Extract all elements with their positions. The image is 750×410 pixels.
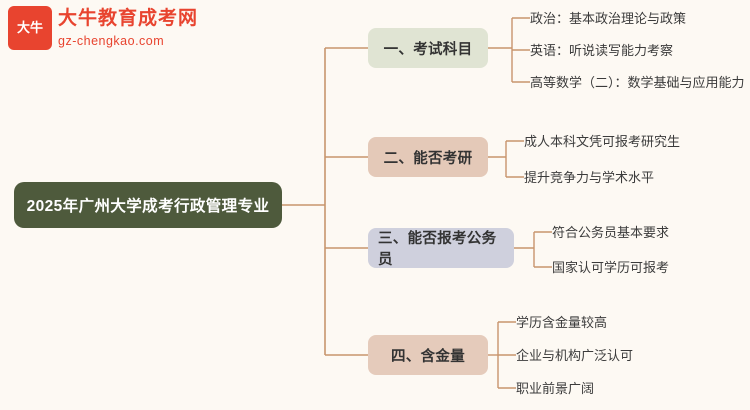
leaf-label-4-2: 企业与机构广泛认可 — [516, 348, 633, 363]
leaf-item-3-2: 国家认可学历可报考 — [552, 260, 669, 276]
leaf-item-4-1: 学历含金量较高 — [516, 315, 607, 331]
branch-label-4: 四、含金量 — [391, 345, 465, 366]
leaf-item-4-2: 企业与机构广泛认可 — [516, 348, 633, 364]
logo-mark-icon: 大牛 — [8, 6, 52, 50]
leaf-label-2-1: 成人本科文凭可报考研究生 — [524, 134, 680, 149]
mindmap-root-label: 2025年广州大学成考行政管理专业 — [27, 194, 270, 216]
leaf-label-1-1: 政治：基本政治理论与政策 — [530, 11, 686, 26]
leaf-item-4-3: 职业前景广阔 — [516, 381, 594, 397]
leaf-label-3-2: 国家认可学历可报考 — [552, 260, 669, 275]
branch-node-1: 一、考试科目 — [368, 28, 488, 68]
leaf-item-1-1: 政治：基本政治理论与政策 — [530, 11, 686, 27]
leaf-label-4-3: 职业前景广阔 — [516, 381, 594, 396]
logo-subtitle: gz-chengkao.com — [58, 34, 198, 48]
branch-node-4: 四、含金量 — [368, 335, 488, 375]
leaf-item-1-3: 高等数学（二）：数学基础与应用能力 — [530, 75, 745, 91]
logo-title: 大牛教育成考网 — [58, 8, 198, 31]
logo-text-block: 大牛教育成考网 gz-chengkao.com — [58, 6, 198, 48]
leaf-label-2-2: 提升竞争力与学术水平 — [524, 170, 654, 185]
leaf-label-1-3: 高等数学（二）：数学基础与应用能力 — [530, 75, 745, 90]
leaf-label-1-2: 英语：听说读写能力考察 — [530, 43, 673, 58]
site-logo[interactable]: 大牛 大牛教育成考网 gz-chengkao.com — [8, 6, 198, 50]
leaf-label-4-1: 学历含金量较高 — [516, 315, 607, 330]
leaf-item-1-2: 英语：听说读写能力考察 — [530, 43, 673, 59]
branch-label-3: 三、能否报考公务员 — [378, 227, 504, 269]
branch-node-2: 二、能否考研 — [368, 137, 488, 177]
branch-label-1: 一、考试科目 — [384, 38, 473, 59]
logo-mark-text: 大牛 — [17, 21, 43, 35]
leaf-item-2-2: 提升竞争力与学术水平 — [524, 170, 654, 186]
leaf-label-3-1: 符合公务员基本要求 — [552, 225, 669, 240]
mindmap-canvas: 大牛 大牛教育成考网 gz-chengkao.com 2025年广州大学成考行政… — [0, 0, 750, 410]
branch-label-2: 二、能否考研 — [384, 147, 473, 168]
leaf-item-2-1: 成人本科文凭可报考研究生 — [524, 134, 680, 150]
branch-node-3: 三、能否报考公务员 — [368, 228, 514, 268]
mindmap-root-node: 2025年广州大学成考行政管理专业 — [14, 182, 282, 228]
leaf-item-3-1: 符合公务员基本要求 — [552, 225, 669, 241]
